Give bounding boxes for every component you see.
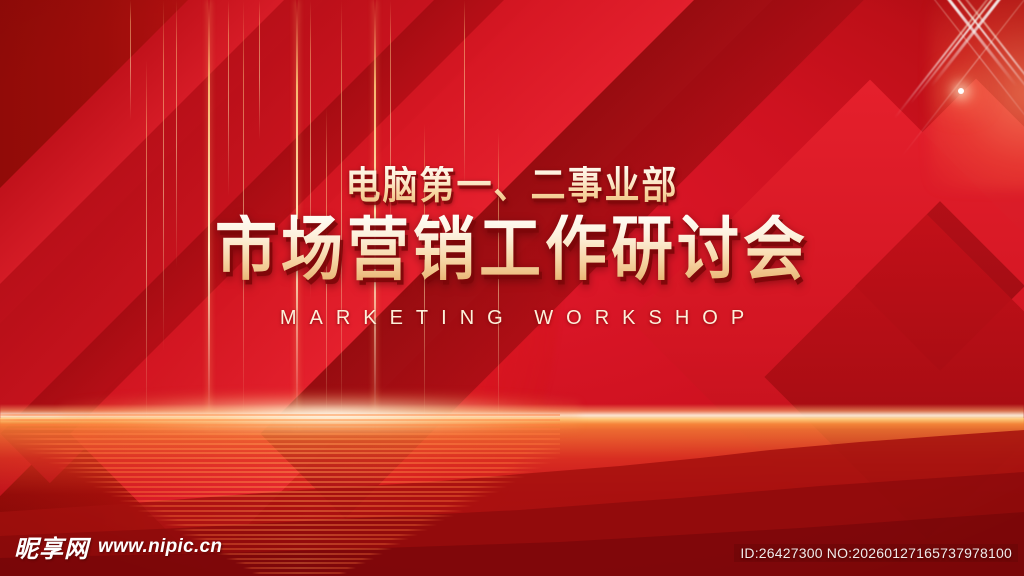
triangle-stripe: [208, 548, 392, 550]
triangle-stripe: [93, 486, 507, 488]
poster-canvas: 电脑第一、二事业部 市场营销工作研讨会 MARKETING WORKSHOP 昵…: [0, 0, 1024, 576]
title-english-subtitle: MARKETING WORKSHOP: [0, 307, 1024, 330]
light-ray: [868, 0, 1024, 151]
triangle-stripe: [0, 428, 560, 430]
triangle-stripe: [252, 572, 347, 574]
triangle-stripe: [102, 491, 499, 493]
triangle-stripe: [0, 424, 560, 426]
subtitle-department: 电脑第一、二事业部: [0, 166, 1024, 207]
triangle-stripe: [0, 414, 560, 416]
triangle-stripe: [0, 433, 560, 435]
watermark: 昵享网 www.nipic.cn: [14, 529, 222, 564]
triangle-stripe: [31, 452, 560, 454]
light-ray: [901, 0, 1024, 157]
sparkle-icon: [958, 88, 964, 94]
page-title: 市场营销工作研讨会: [0, 214, 1024, 285]
triangle-stripe: [217, 553, 383, 555]
triangle-stripe: [40, 457, 560, 459]
triangle-stripe: [155, 519, 445, 521]
triangle-stripe: [110, 495, 489, 497]
triangle-stripe: [226, 558, 374, 560]
triangle-stripe: [128, 505, 472, 507]
asset-id-label: ID:26427300 NO:20260127165737978100: [734, 544, 1018, 562]
triangle-stripe: [243, 567, 356, 569]
triangle-stripe: [48, 462, 551, 464]
triangle-stripe: [164, 524, 437, 526]
triangle-stripe: [4, 438, 560, 440]
triangle-stripe: [13, 443, 560, 445]
triangle-stripe: [146, 515, 454, 517]
triangle-stripe: [75, 476, 525, 478]
triangle-stripe: [84, 481, 516, 483]
triangle-stripe: [119, 500, 480, 502]
triangle-stripe: [137, 510, 463, 512]
title-group: 电脑第一、二事业部 市场营销工作研讨会 MARKETING WORKSHOP: [0, 168, 1024, 330]
triangle-stripe: [235, 562, 366, 564]
triangle-stripe: [199, 543, 401, 545]
triangle-stripe: [22, 448, 560, 450]
triangle-stripe: [57, 467, 542, 469]
watermark-logo: 昵享网: [14, 529, 89, 564]
triangle-stripe: [0, 419, 560, 421]
triangle-stripe: [190, 538, 409, 540]
triangle-stripe: [66, 471, 534, 473]
watermark-url: www.nipic.cn: [98, 536, 222, 558]
